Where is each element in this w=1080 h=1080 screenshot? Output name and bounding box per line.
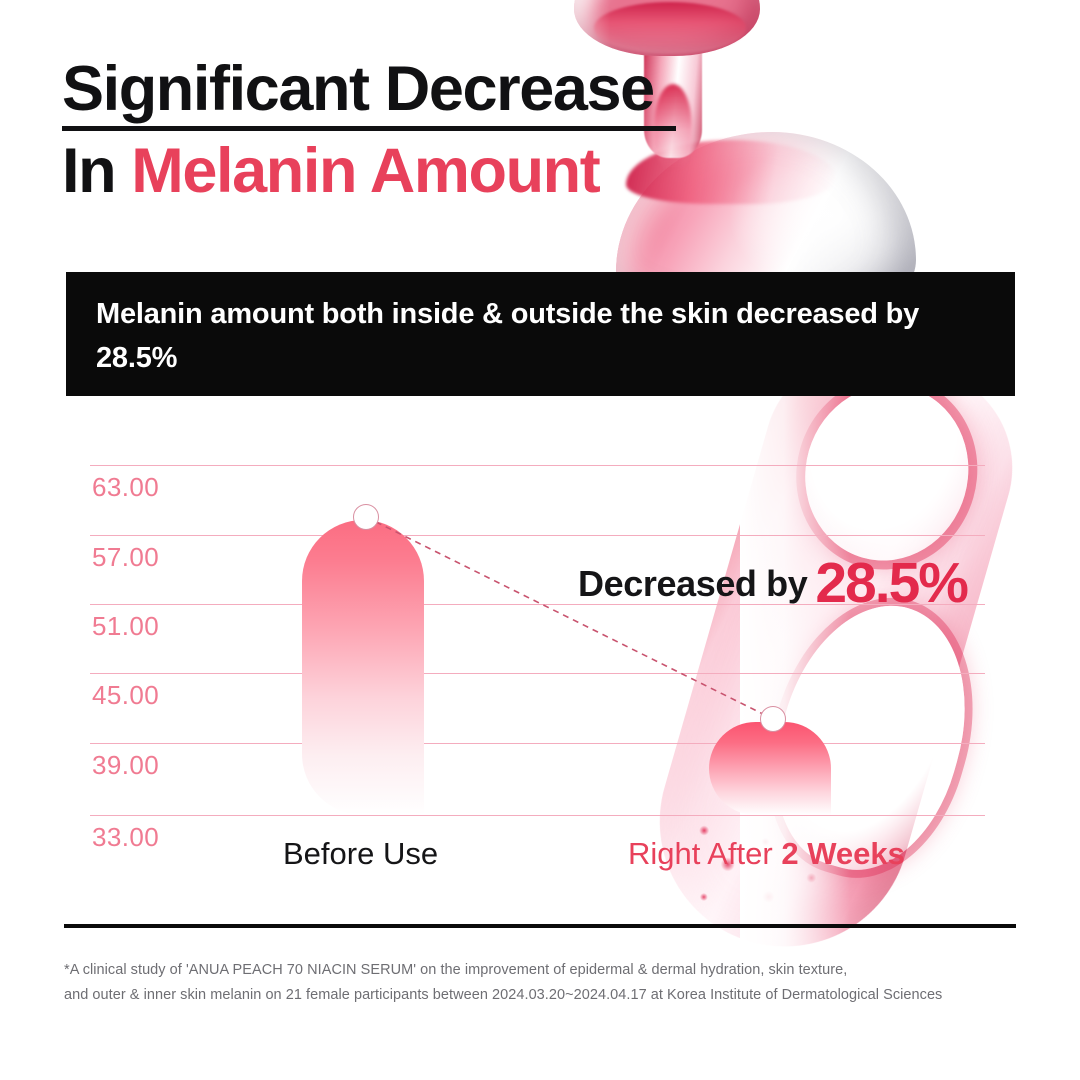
- page-title: Significant Decrease In Melanin Amount: [62, 56, 762, 205]
- marker-before-use: [353, 504, 379, 530]
- decrease-connector-line: [0, 440, 1080, 930]
- headline-underline: [62, 126, 676, 131]
- decrease-callout: Decreased by28.5%: [578, 550, 967, 616]
- headline-line-2-accent: Melanin Amount: [131, 136, 599, 206]
- decrease-callout-percent: 28.5%: [815, 551, 967, 615]
- marker-right-after-2-weeks: [760, 706, 786, 732]
- melanin-bar-chart: 63.00 57.00 51.00 45.00 39.00 33.00: [0, 440, 1080, 930]
- summary-banner: Melanin amount both inside & outside the…: [66, 272, 1015, 396]
- summary-banner-text: Melanin amount both inside & outside the…: [96, 292, 996, 380]
- headline-line-2-prefix: In: [62, 136, 131, 206]
- study-footnote: *A clinical study of 'ANUA PEACH 70 NIAC…: [64, 958, 1054, 1008]
- study-footnote-line-1: *A clinical study of 'ANUA PEACH 70 NIAC…: [64, 958, 1054, 983]
- dropper-bulb: [574, 0, 760, 56]
- study-footnote-line-2: and outer & inner skin melanin on 21 fem…: [64, 983, 1054, 1008]
- headline-line-1: Significant Decrease: [62, 56, 762, 122]
- dropper-bulb-rim: [594, 2, 746, 54]
- decrease-callout-label: Decreased by: [578, 563, 807, 604]
- headline-line-2: In Melanin Amount: [62, 137, 762, 205]
